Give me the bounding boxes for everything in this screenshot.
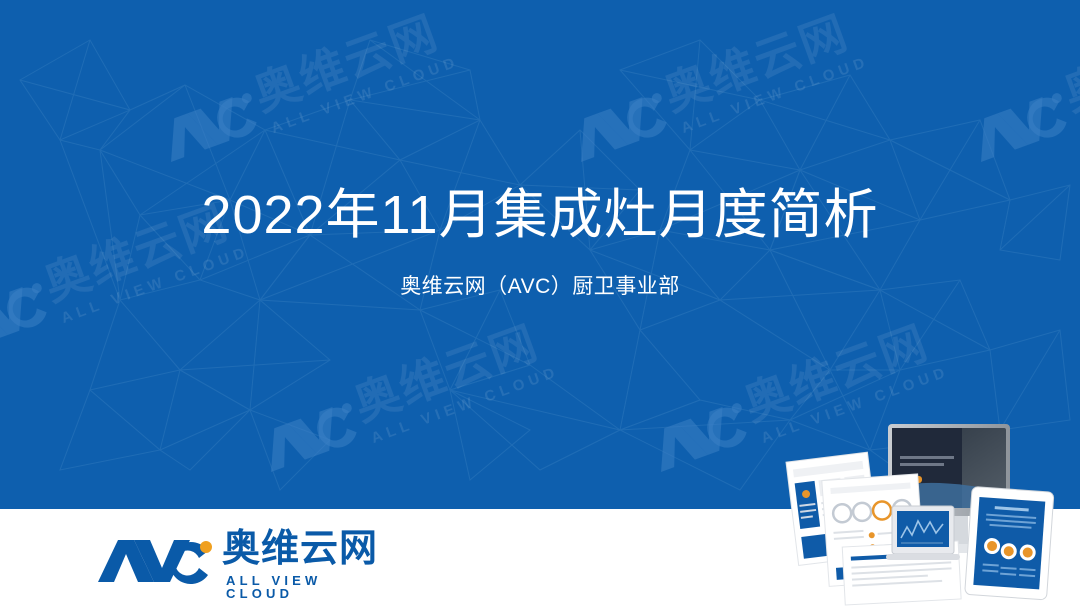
tablet-device [965,487,1054,600]
logo-en-text: ALL VIEW CLOUD [226,574,386,600]
title-slide: 奥维云网 ALL VIEW CLOUD 奥维云网 ALL VIEW CLOUD [0,0,1080,608]
avc-mark-icon [96,538,214,584]
page-subtitle: 奥维云网（AVC）厨卫事业部 [0,274,1080,299]
laptop-device [886,506,960,560]
logo-cn-text: 奥维云网 [222,530,378,568]
page-title: 2022年11月集成灶月度简析 [0,186,1080,245]
device-montage-illustration [780,418,1080,608]
avc-logo: 奥维云网 ALL VIEW CLOUD [96,530,386,590]
